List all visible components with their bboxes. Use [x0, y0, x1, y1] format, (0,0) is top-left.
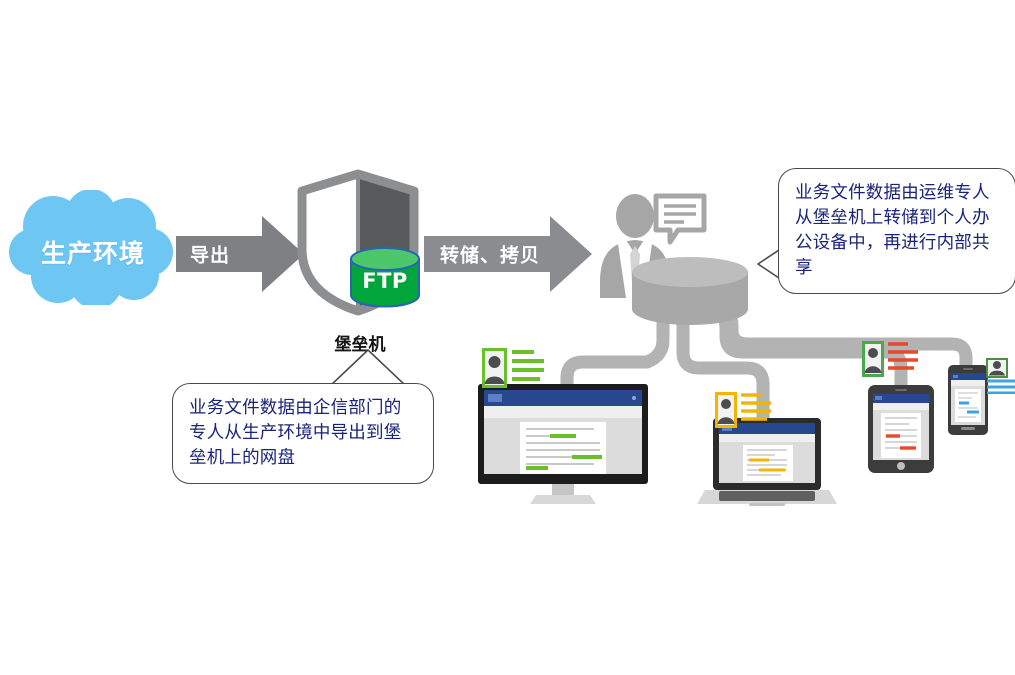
callout-left: 业务文件数据由企信部门的专人从生产环境中导出到堡垒机上的网盘 — [172, 383, 434, 484]
contact-card-yellow — [715, 392, 771, 428]
contact-card-icon — [862, 341, 918, 377]
tablet-icon — [868, 385, 934, 473]
database-cylinder-icon — [630, 255, 750, 327]
contact-card-green — [482, 348, 544, 388]
ftp-label: FTP — [349, 269, 421, 293]
smartphone-icon — [948, 365, 988, 435]
production-environment-cloud: 生产环境 — [8, 190, 178, 305]
speech-bubble-icon — [656, 196, 704, 242]
bastion-host-label: 堡垒机 — [300, 330, 420, 355]
cloud-label: 生产环境 — [8, 234, 178, 270]
ftp-storage: FTP — [349, 246, 421, 308]
laptop[interactable] — [697, 418, 837, 510]
diagram-canvas: 生产环境 导出 FTP 堡垒机 转储、拷贝 — [0, 0, 1015, 675]
callout-right: 业务文件数据由运维专人从堡垒机上转储到个人办公设备中，再进行内部共享 — [778, 168, 1015, 294]
laptop-icon — [697, 418, 837, 510]
contact-card-icon — [986, 358, 1015, 394]
contact-card-blue — [986, 358, 1015, 394]
contact-card-icon — [715, 392, 771, 428]
flow-arrow-export-label: 导出 — [190, 241, 230, 268]
desktop-monitor[interactable] — [478, 384, 648, 506]
contact-card-icon — [482, 348, 544, 388]
smartphone[interactable] — [948, 365, 988, 435]
flow-arrow-transfer: 转储、拷贝 — [424, 212, 592, 296]
tablet[interactable] — [868, 385, 934, 473]
desktop-monitor-icon — [478, 384, 648, 506]
pipe-connectors — [0, 0, 1015, 675]
flow-arrow-transfer-label: 转储、拷贝 — [440, 241, 540, 268]
flow-arrow-export: 导出 — [176, 212, 304, 296]
central-data-store — [630, 255, 750, 327]
contact-card-red — [862, 341, 918, 377]
